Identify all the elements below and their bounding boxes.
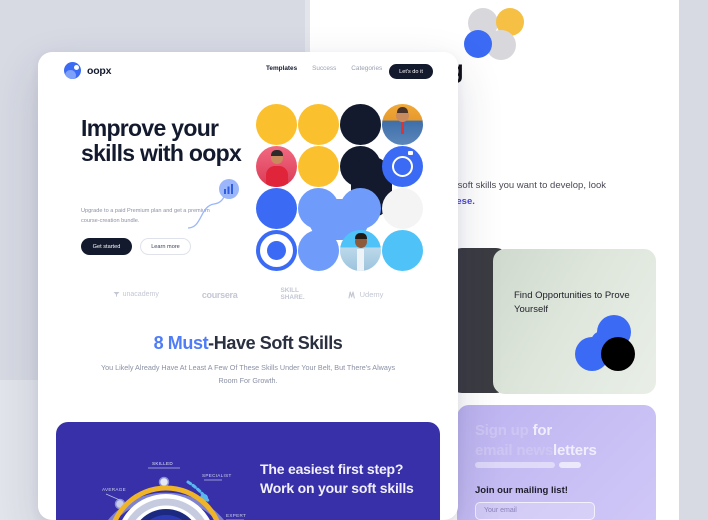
nav-item-success[interactable]: Success [312, 65, 336, 72]
nav-item-templates[interactable]: Templates [266, 65, 297, 72]
collage-avatar-2 [256, 146, 297, 187]
collage-yellow-2 [298, 104, 339, 145]
promo-card-text: The easiest first step? Work on your sof… [260, 460, 420, 498]
section-paragraph: You Likely Already Have At Least A Few O… [98, 362, 398, 387]
collage-avatar-3 [340, 230, 381, 271]
svg-text:SKILLED: SKILLED [152, 461, 173, 466]
svg-text:SPECIALIST: SPECIALIST [202, 473, 232, 478]
collage-yellow-1 [256, 104, 297, 145]
collage-ring-inner [267, 241, 286, 260]
partner-logos-row: unacademy coursera SKILL SHARE. Udemy [38, 288, 458, 301]
logo-coursera: coursera [202, 290, 238, 300]
collage-white-circle [382, 188, 423, 229]
brand-name: oopx [87, 65, 111, 77]
hero-circle-collage [256, 104, 422, 270]
logo-unacademy: unacademy [113, 291, 159, 298]
collage-yellow-3 [298, 146, 339, 187]
newsletter-heading: Sign up for email newsletters [475, 421, 645, 461]
curved-line-decoration [188, 182, 248, 232]
camera-flash-icon [408, 151, 413, 155]
logo-coursera-label: coursera [202, 290, 238, 300]
logo-udemy: Udemy [348, 290, 384, 299]
brand-logo[interactable]: oopx [64, 62, 111, 79]
udemy-mark-icon [348, 291, 357, 299]
newsletter-blurred-text-bar-2 [559, 462, 581, 468]
svg-text:EXPERT: EXPERT [226, 513, 246, 518]
newsletter-card[interactable]: Sign up for email newsletters Join our m… [457, 405, 656, 520]
blue-dot-icon [464, 30, 492, 58]
logo-skillshare: SKILL SHARE. [280, 288, 304, 301]
collage-cyan-1 [382, 230, 423, 271]
camera-icon [392, 156, 413, 177]
newsletter-heading-bright-2: letters [553, 442, 597, 459]
bar-chart-bubble-icon [219, 179, 239, 199]
get-started-button[interactable]: Get started [81, 238, 132, 255]
learn-more-button[interactable]: Learn more [140, 238, 191, 255]
newsletter-heading-dim-2: email news [475, 442, 553, 459]
black-blob-icon [601, 337, 635, 371]
svg-text:AVERAGE: AVERAGE [102, 487, 126, 492]
collage-avatar-1 [382, 104, 423, 145]
oopx-logo-icon [64, 62, 81, 79]
newsletter-email-input[interactable]: Your email [475, 502, 595, 520]
collage-blue-4 [298, 230, 339, 271]
nav-item-categories[interactable]: Categories [351, 65, 382, 72]
collage-navy-1 [340, 104, 381, 145]
logo-skillshare-label: SKILL SHARE. [280, 288, 304, 301]
opportunities-card-text: Find Opportunities to Prove Yourself [514, 289, 634, 318]
logo-udemy-label: Udemy [360, 290, 384, 299]
nav-cta-button[interactable]: Let's do it [389, 64, 433, 79]
promo-card[interactable]: BEGINNER AVERAGE SKILLED SPECIALIST EXPE… [56, 422, 440, 520]
section-heading-accent: 8 Must [154, 333, 209, 353]
section-heading-rest: -Have Soft Skills [208, 333, 342, 353]
newsletter-heading-dim-1: Sign up [475, 422, 533, 439]
design-preview-card[interactable]: oopx Templates Success Categories Pricin… [38, 52, 458, 520]
unacademy-mark-icon [113, 291, 120, 298]
hero-title: Improve your skills with oopx [81, 116, 246, 167]
collage-blue-1 [256, 188, 297, 229]
newsletter-heading-bright-1: for [533, 422, 552, 439]
newsletter-join-label: Join our mailing list! [475, 485, 568, 496]
opportunities-card[interactable]: Find Opportunities to Prove Yourself [493, 249, 656, 394]
skill-gauge-chart: BEGINNER AVERAGE SKILLED SPECIALIST EXPE… [76, 432, 256, 520]
section-heading: 8 Must-Have Soft Skills [38, 333, 458, 354]
hero-buttons: Get started Learn more [81, 238, 191, 255]
newsletter-blurred-text-bar-1 [475, 462, 555, 468]
logo-unacademy-label: unacademy [123, 291, 159, 298]
